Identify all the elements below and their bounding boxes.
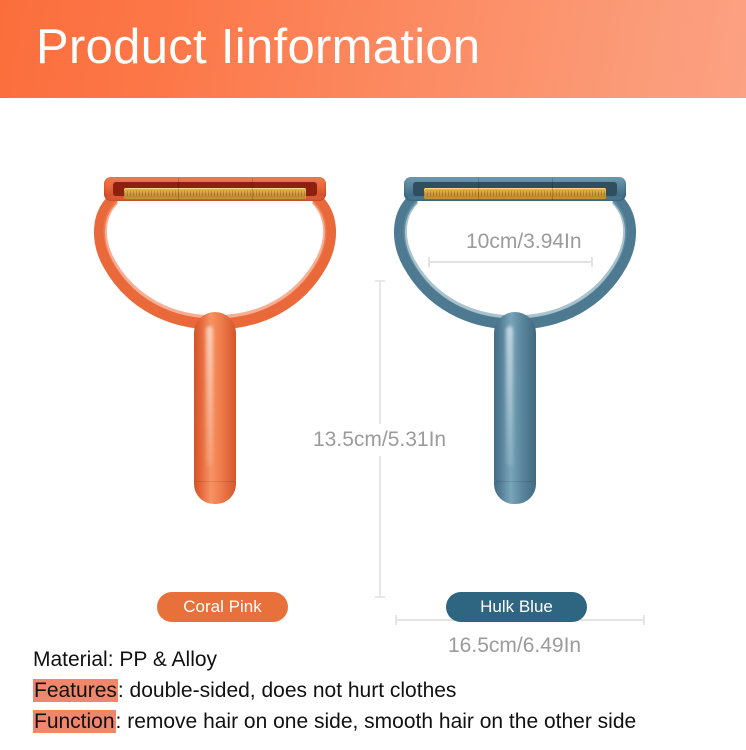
product-image-stage: 10cm/3.94In 13.5cm/5.31In 16.5cm/6.49In: [0, 98, 746, 578]
blade-recess: [113, 182, 317, 196]
blade-housing-coral-pink: [104, 177, 326, 201]
blade-teeth: [124, 191, 306, 196]
dimension-label-blade-width: 10cm/3.94In: [466, 230, 582, 254]
housing-seam: [478, 178, 479, 200]
color-badge-hulk-blue[interactable]: Hulk Blue: [446, 592, 587, 622]
housing-seam: [552, 178, 553, 200]
color-badge-coral-pink[interactable]: Coral Pink: [157, 592, 288, 622]
spec-row-features: Features: double-sided, does not hurt cl…: [33, 675, 733, 706]
header-banner: Product Iinformation: [0, 0, 746, 98]
spec-value-material: : PP & Alloy: [108, 648, 217, 671]
alloy-blade-icon: [124, 188, 306, 199]
page-title: Product Iinformation: [36, 17, 481, 77]
handle-gloss: [506, 326, 513, 466]
handle-coral-pink: [194, 312, 236, 504]
dimension-label-height: 13.5cm/5.31In: [307, 424, 452, 456]
alloy-blade-icon: [424, 188, 606, 199]
dimension-line-blade-width: [428, 261, 593, 263]
handle-tip-seam: [196, 481, 234, 482]
spec-key-function: Function: [33, 710, 116, 733]
blade-teeth: [424, 191, 606, 196]
spec-key-features: Features: [33, 679, 118, 702]
spec-key-material: Material: [33, 648, 108, 671]
housing-seam: [252, 178, 253, 200]
spec-row-function: Function: remove hair on one side, smoot…: [33, 706, 733, 737]
blade-housing-hulk-blue: [404, 177, 626, 201]
spec-list: Material: PP & Alloy Features: double-si…: [33, 644, 733, 737]
spec-value-features: : double-sided, does not hurt clothes: [118, 679, 457, 702]
blade-recess: [413, 182, 617, 196]
product-variant-coral-pink: [90, 172, 340, 502]
handle-gloss: [206, 326, 213, 466]
spec-value-function: : remove hair on one side, smooth hair o…: [116, 710, 637, 733]
handle-tip-seam: [496, 481, 534, 482]
housing-seam: [178, 178, 179, 200]
handle-hulk-blue: [494, 312, 536, 504]
spec-row-material: Material: PP & Alloy: [33, 644, 733, 675]
